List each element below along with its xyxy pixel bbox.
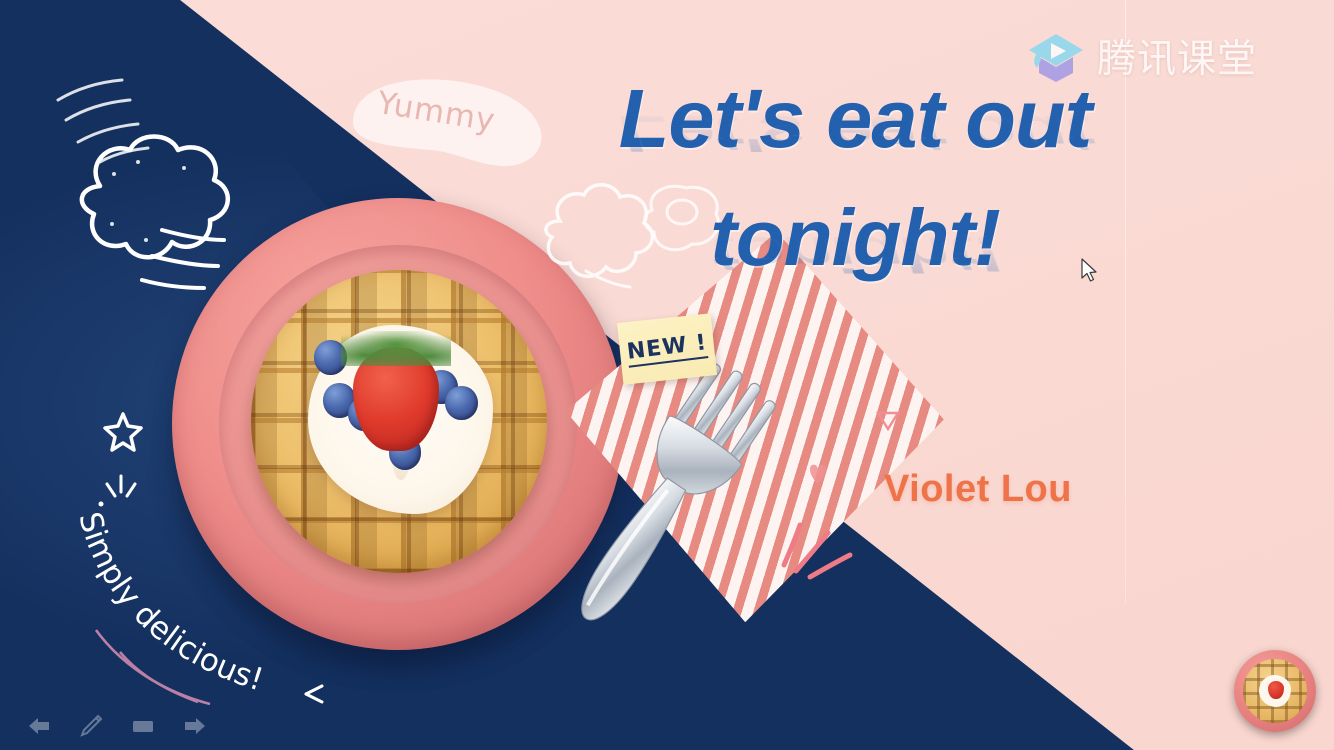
handwriting-caption: Simply delicious! [60,480,390,720]
slide-toolbar [0,702,266,750]
pencil-icon [78,713,104,739]
waffle-avatar[interactable] [1234,650,1316,732]
handwriting-text: Simply delicious! [71,508,267,698]
blueberry [445,386,478,420]
slide-list-button[interactable] [130,713,156,739]
rectangle-icon [130,713,156,739]
author-name: Violet Lou [884,468,1072,511]
title-reflection: tonight! [545,229,1165,278]
title-block: Let's eat outLet's eat out tonight!tonig… [545,78,1165,278]
arrow-left-icon [26,713,52,739]
sticky-note: NEW ! [617,313,717,384]
sticky-note-text: NEW ! [625,330,708,368]
speech-bubble: Yummy [335,70,550,175]
strawberry [353,347,439,451]
arrow-right-icon [182,713,208,739]
title-line-2: tonight!tonight! [545,199,1165,277]
title-reflection: Let's eat out [545,109,1165,159]
presentation-slide: NEW ! Yummy [0,0,1334,750]
title-line-1: Let's eat outLet's eat out [545,78,1165,159]
next-slide-button[interactable] [182,713,208,739]
previous-slide-button[interactable] [26,713,52,739]
watermark-text: 腾讯课堂 [1097,40,1257,79]
annotate-button[interactable] [78,713,104,739]
